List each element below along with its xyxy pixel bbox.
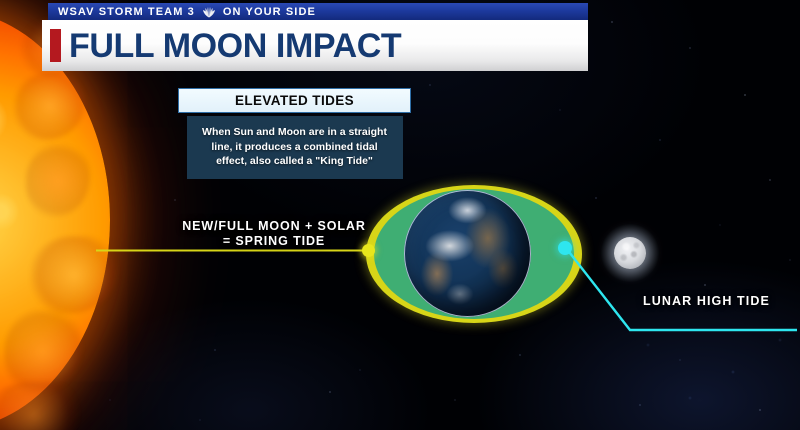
callout-heading: ELEVATED TIDES	[178, 88, 411, 113]
headline-bar: FULL MOON IMPACT	[42, 20, 588, 71]
spring-tide-label: NEW/FULL MOON + SOLAR = SPRING TIDE	[168, 219, 380, 249]
spring-tide-label-line2: = SPRING TIDE	[168, 234, 380, 249]
earth-with-tidal-bulges	[360, 178, 592, 338]
elevated-tides-callout: ELEVATED TIDES When Sun and Moon are in …	[178, 88, 411, 179]
headline-accent-tick	[50, 29, 61, 62]
spring-tide-label-line1: NEW/FULL MOON + SOLAR	[168, 219, 380, 234]
tagline-text: ON YOUR SIDE	[223, 6, 316, 18]
station-strip: WSAV STORM TEAM 3 ON YOUR SIDE	[48, 3, 588, 20]
broadcast-graphic: NEW/FULL MOON + SOLAR = SPRING TIDE LUNA…	[0, 0, 800, 430]
headline-text: FULL MOON IMPACT	[69, 29, 401, 63]
lunar-high-tide-label: LUNAR HIGH TIDE	[643, 294, 770, 308]
moon	[614, 237, 646, 269]
station-name-text: WSAV STORM TEAM 3	[58, 6, 195, 18]
earth-outline	[404, 190, 531, 317]
nbc-peacock-icon	[201, 6, 217, 18]
lunar-tide-marker-dot	[558, 241, 572, 255]
callout-body-text: When Sun and Moon are in a straight line…	[187, 116, 403, 179]
